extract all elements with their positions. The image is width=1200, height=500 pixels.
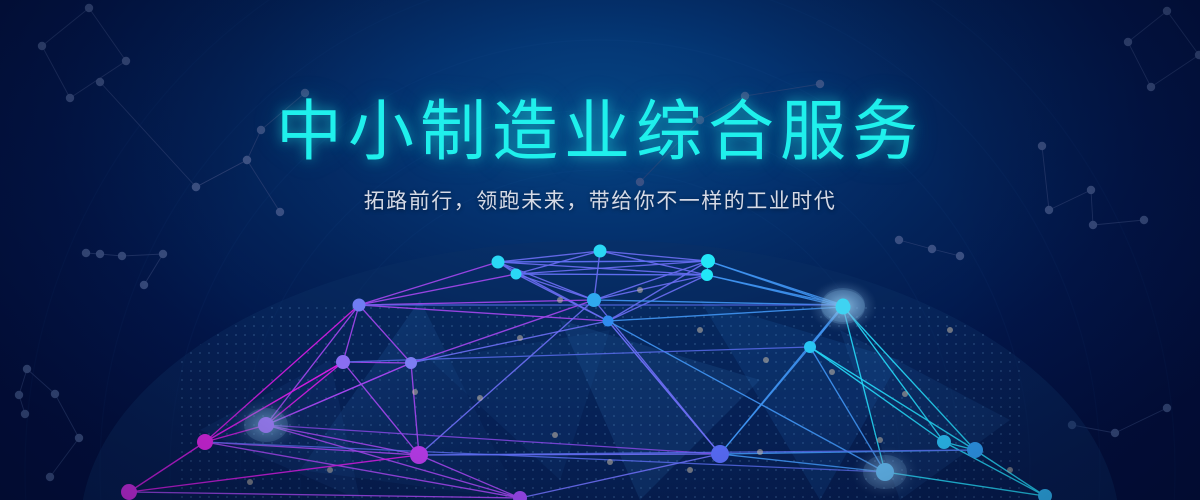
hero-banner: 中小制造业综合服务 拓路前行，领跑未来，带给你不一样的工业时代 [0, 0, 1200, 500]
background-vignette [0, 0, 1200, 500]
